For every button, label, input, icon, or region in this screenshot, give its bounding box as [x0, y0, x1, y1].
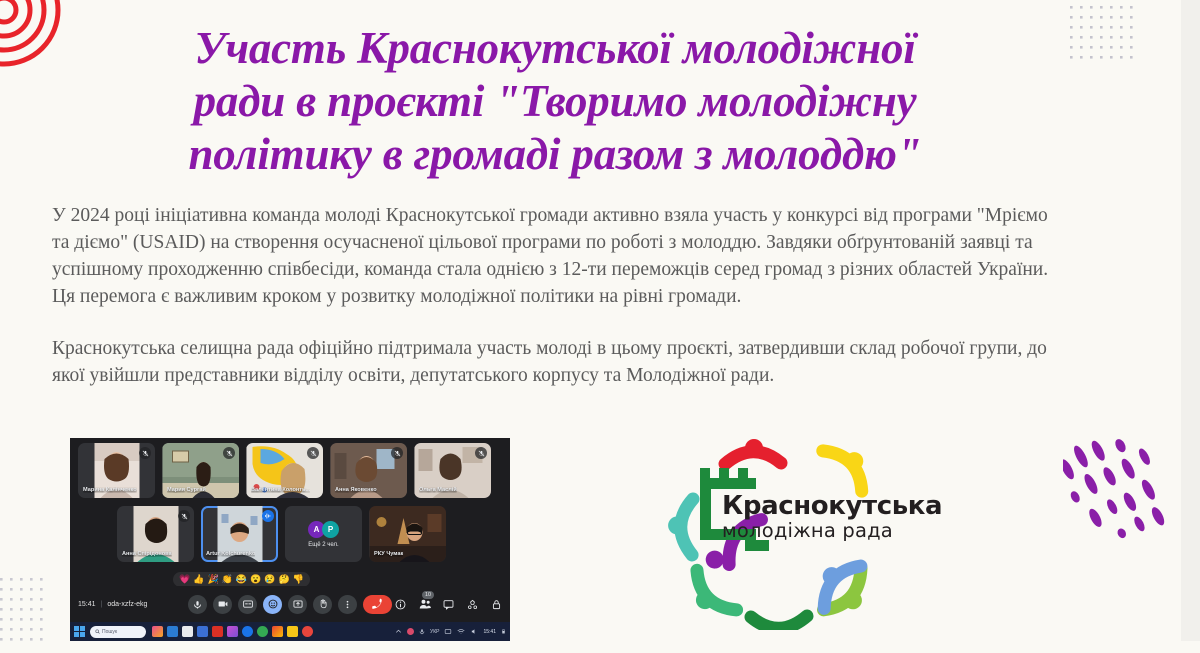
end-call-button[interactable] — [363, 595, 392, 614]
taskbar-app-icon[interactable] — [197, 626, 208, 637]
logo-title-line-1: Краснокутська — [722, 492, 942, 520]
mic-muted-icon — [139, 447, 151, 459]
meet-toolbar: 15:41 | oda-xzfz-ekg — [70, 586, 510, 622]
taskbar-app-icon[interactable] — [302, 626, 313, 637]
dot-grid-decoration-top-right — [1070, 0, 1140, 64]
reaction-clap-icon[interactable]: 👏 — [222, 574, 233, 585]
windows-taskbar: Пошук УКР 15:41 — [70, 622, 510, 641]
chevron-up-icon[interactable] — [395, 628, 402, 635]
participant-name: Анна Яковенко — [335, 487, 377, 493]
video-grid-row-bottom: Анна Спірідонова Artur Kolchurenko — [117, 506, 446, 562]
reaction-party-icon[interactable]: 🎉 — [207, 574, 218, 585]
participant-tile[interactable]: Анна Спірідонова — [117, 506, 194, 562]
meet-toolbar-buttons — [188, 595, 392, 614]
participant-name: Мария Сургай — [167, 487, 206, 493]
taskbar-app-icon[interactable] — [272, 626, 283, 637]
taskbar-apps — [152, 626, 313, 637]
meeting-time: 15:41 — [78, 601, 96, 608]
keyboard-language[interactable]: УКР — [430, 629, 439, 635]
more-participants-tile[interactable]: А Р Ещё 2 чел. — [285, 506, 362, 562]
reaction-surprised-icon[interactable]: 😮 — [250, 574, 261, 585]
taskbar-app-icon[interactable] — [182, 626, 193, 637]
reaction-sad-icon[interactable]: 😢 — [264, 574, 275, 585]
mic-muted-icon — [178, 510, 190, 522]
paragraph-1: У 2024 році ініціативна команда молоді К… — [52, 202, 1052, 310]
wifi-icon[interactable] — [457, 628, 465, 635]
activities-icon[interactable] — [466, 598, 479, 611]
taskbar-app-icon[interactable] — [167, 626, 178, 637]
participant-name: Марина Калінченко — [83, 487, 137, 493]
speaking-indicator-icon — [262, 510, 274, 522]
tray-app-icon[interactable] — [407, 628, 414, 635]
krasnokutsk-youth-council-logo: Краснокутська молодіжна рада — [624, 430, 934, 630]
reaction-laugh-icon[interactable]: 😂 — [236, 574, 247, 585]
participants-count-badge: 10 — [422, 591, 434, 599]
participant-tile[interactable]: Ольга Маслій — [414, 443, 491, 498]
participant-tile[interactable]: Анна Яковенко — [330, 443, 407, 498]
reaction-thumbs-down-icon[interactable]: 👎 — [293, 574, 304, 585]
raise-hand-button[interactable] — [313, 595, 332, 614]
taskbar-app-icon[interactable] — [257, 626, 268, 637]
participant-name: Ольга Маслій — [419, 487, 457, 493]
mic-muted-icon — [223, 447, 235, 459]
video-grid-row-top: Марина Калінченко Мария Сургай — [78, 443, 491, 498]
participant-tile[interactable]: Валентина Колонть... — [246, 443, 323, 498]
taskbar-search-placeholder: Пошук — [102, 629, 117, 635]
purple-dashes-decoration — [1063, 428, 1183, 558]
meeting-info: 15:41 | oda-xzfz-ekg — [78, 601, 147, 608]
video-conference-screenshot: Марина Калінченко Мария Сургай — [70, 438, 510, 641]
meeting-code: oda-xzfz-ekg — [107, 601, 147, 608]
avatar-group: А Р — [308, 521, 339, 538]
taskbar-system-tray: УКР 15:41 — [395, 628, 506, 635]
microphone-button[interactable] — [188, 595, 207, 614]
meet-toolbar-right: 10 — [394, 598, 503, 611]
reaction-thinking-icon[interactable]: 🤔 — [279, 574, 290, 585]
emoji-reactions-button[interactable] — [263, 595, 282, 614]
taskbar-app-icon[interactable] — [212, 626, 223, 637]
taskbar-app-icon[interactable] — [227, 626, 238, 637]
mic-muted-icon — [391, 447, 403, 459]
network-icon[interactable] — [444, 628, 452, 635]
participant-tile[interactable]: РКУ Чумак — [369, 506, 446, 562]
participant-name: Artur Kolchurenko — [206, 551, 255, 557]
volume-icon[interactable] — [470, 628, 478, 635]
lock-icon[interactable] — [490, 598, 503, 611]
search-icon — [95, 629, 100, 634]
reaction-heart-icon[interactable]: 💗 — [179, 574, 190, 585]
mic-muted-icon — [307, 447, 319, 459]
avatar: Р — [322, 521, 339, 538]
right-edge-strip — [1181, 0, 1200, 641]
participant-tile[interactable]: Мария Сургай — [162, 443, 239, 498]
taskbar-app-icon[interactable] — [242, 626, 253, 637]
reaction-thumbs-up-icon[interactable]: 👍 — [193, 574, 204, 585]
participant-tile-active-speaker[interactable]: Artur Kolchurenko — [201, 506, 278, 562]
taskbar-search-input[interactable]: Пошук — [90, 626, 146, 638]
info-icon[interactable] — [394, 598, 407, 611]
chat-icon[interactable] — [442, 598, 455, 611]
captions-button[interactable] — [238, 595, 257, 614]
participant-name: Анна Спірідонова — [122, 551, 172, 557]
logo-wordmark: Краснокутська молодіжна рада — [722, 492, 942, 542]
participant-name: РКУ Чумак — [374, 551, 403, 557]
more-options-button[interactable] — [338, 595, 357, 614]
paragraph-2: Краснокутська селищна рада офіційно підт… — [52, 335, 1052, 389]
meeting-info-separator: | — [101, 601, 103, 608]
video-grid: Марина Калінченко Мария Сургай — [70, 438, 510, 586]
page-title-line-3: політику в громаді разом з молоддю" — [50, 128, 1060, 181]
body-copy: У 2024 році ініціативна команда молоді К… — [52, 202, 1052, 389]
page-title-line-2: ради в проєкті "Творимо молодіжну — [50, 75, 1060, 128]
taskbar-clock[interactable]: 15:41 — [483, 629, 496, 635]
present-screen-button[interactable] — [288, 595, 307, 614]
taskbar-app-icon[interactable] — [152, 626, 163, 637]
more-participants-label: Ещё 2 чел. — [308, 542, 338, 548]
mic-muted-icon — [475, 447, 487, 459]
page-title: Участь Краснокутської молодіжної ради в … — [50, 22, 1060, 181]
participant-tile[interactable]: Марина Калінченко — [78, 443, 155, 498]
microphone-tray-icon[interactable] — [419, 628, 425, 635]
page-title-line-1: Участь Краснокутської молодіжної — [50, 22, 1060, 75]
camera-button[interactable] — [213, 595, 232, 614]
people-icon[interactable]: 10 — [418, 598, 431, 611]
taskbar-app-icon[interactable] — [287, 626, 298, 637]
battery-icon[interactable] — [501, 628, 506, 635]
logo-title-line-2: молодіжна рада — [722, 520, 942, 542]
participant-name: Валентина Колонть... — [251, 487, 310, 493]
windows-start-icon[interactable] — [74, 626, 85, 637]
dot-grid-decoration-bottom-left — [0, 578, 48, 648]
emoji-reactions-bar[interactable]: 💗 👍 🎉 👏 😂 😮 😢 🤔 👎 — [173, 572, 310, 587]
